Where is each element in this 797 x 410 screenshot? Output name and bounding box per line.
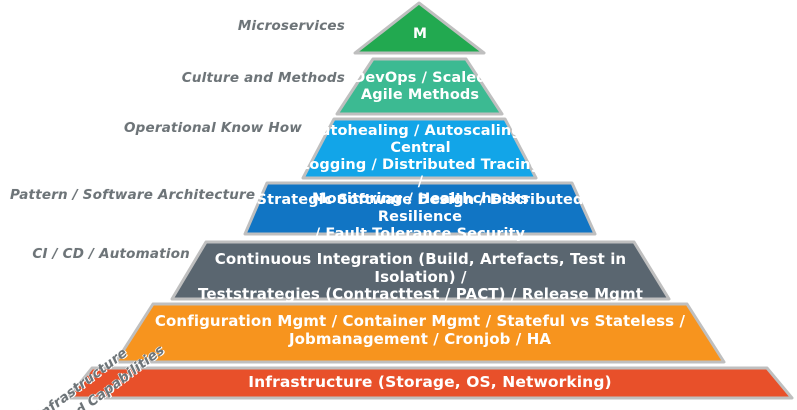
side-label-operational-know-how: Operational Know How (90, 120, 302, 136)
side-label-microservices: Microservices (140, 18, 345, 34)
tier-shape-infrastructure[interactable] (68, 368, 792, 398)
tier-shape-culture-and-methods[interactable] (337, 59, 502, 114)
tier-shape-cloud-capabilities[interactable] (116, 304, 724, 362)
tier-shape-pattern-software-architecture[interactable] (245, 183, 595, 234)
tier-shape-microservices[interactable] (355, 3, 484, 53)
tier-shape-operational-know-how[interactable] (303, 119, 536, 178)
pyramid-diagram: M DevOps / Scaled Agile Methods Autoheal… (0, 0, 797, 410)
tier-shape-ci-cd-automation[interactable] (172, 242, 669, 299)
side-label-ci-cd-automation: CI / CD / Automation (20, 246, 190, 262)
side-label-culture-and-methods: Culture and Methods (140, 70, 345, 86)
side-label-pattern-software-architecture: Pattern / Software Architecture (10, 187, 240, 203)
